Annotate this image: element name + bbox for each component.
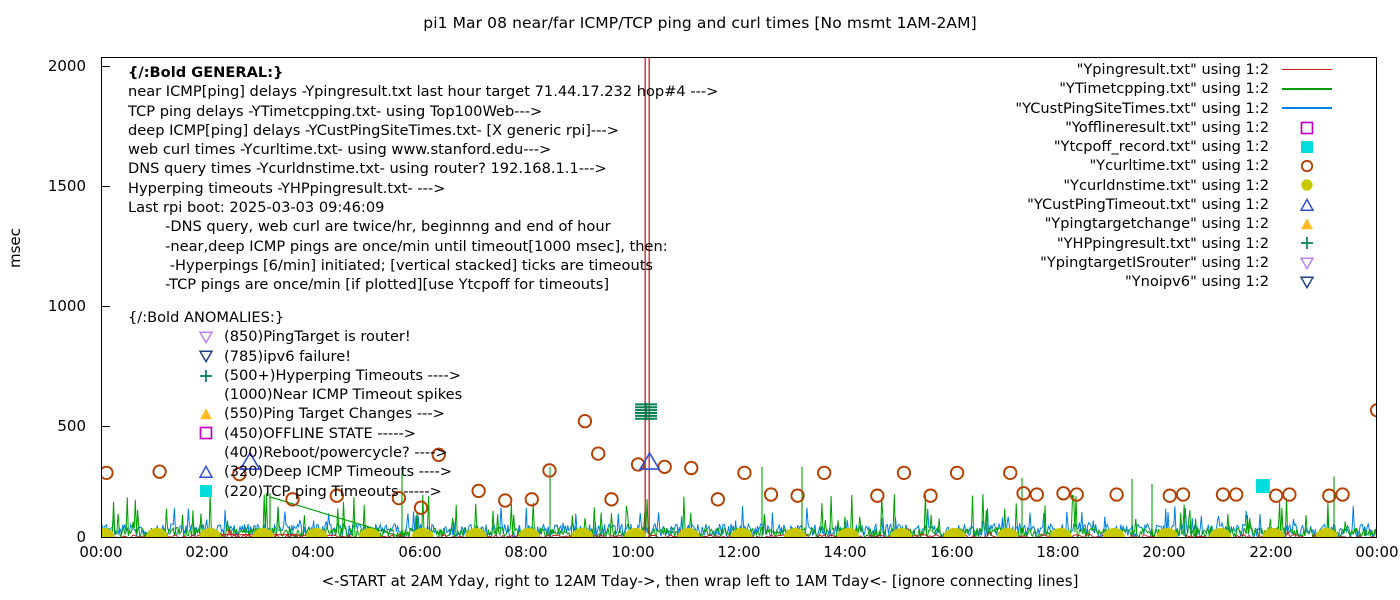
y-tick-1000: 1000 [6,297,86,315]
general-line-1: TCP ping delays -YTimetcpping.txt- using… [128,102,718,121]
anomaly-row-pingtarget-router: (850)PingTarget is router! [128,327,462,346]
legend-label: "Yofflineresult.txt" using 1:2 [1065,118,1269,137]
legend-item-ycustpingsitetimes[interactable]: "YCustPingSiteTimes.txt" using 1:2 [1015,99,1336,118]
legend-label: "YCustPingTimeout.txt" using 1:2 [1027,195,1269,214]
anomaly-label: (785)ipv6 failure! [224,347,351,366]
anomaly-row-offline-state: (450)OFFLINE STATE -----> [128,424,462,443]
plus-green-icon [1278,235,1336,251]
line-blue-icon [1278,107,1336,109]
general-line-5: Hyperping timeouts -YHPpingresult.txt- -… [128,179,718,198]
x-tick-1800: 18:00 [1018,543,1098,561]
anomalies-heading: {/:Bold ANOMALIES:} [128,308,462,327]
legend-label: "Ynoipv6" using 1:2 [1125,272,1269,291]
general-heading: {/:Bold GENERAL:} [128,63,718,82]
y-tick-2000: 2000 [6,57,86,75]
general-line-9: -Hyperpings [6/min] initiated; [vertical… [128,256,718,275]
legend: "Ypingresult.txt" using 1:2 "YTimetcppin… [1015,60,1336,292]
legend-item-yofflineresult[interactable]: "Yofflineresult.txt" using 1:2 [1015,118,1336,137]
x-tick-0600: 06:00 [380,543,460,561]
filled-square-cyan-icon [1278,139,1336,155]
filled-square-cyan-icon [188,483,224,499]
filled-triangle-up-orange-icon [1278,216,1336,232]
legend-item-ypingtargetchange[interactable]: "Ypingtargetchange" using 1:2 [1015,214,1336,233]
chart-title: pi1 Mar 08 near/far ICMP/TCP ping and cu… [0,14,1400,32]
legend-item-ypingtargetisrouter[interactable]: "YpingtargetISrouter" using 1:2 [1015,253,1336,272]
legend-label: "Ytcpoff_record.txt" using 1:2 [1054,137,1269,156]
legend-item-ycurltime[interactable]: "Ycurltime.txt" using 1:2 [1015,156,1336,175]
legend-label: "Ycurldnstime.txt" using 1:2 [1063,176,1269,195]
legend-label: "Ycurltime.txt" using 1:2 [1089,156,1269,175]
y-tick-500: 500 [6,417,86,435]
legend-item-ypingresult[interactable]: "Ypingresult.txt" using 1:2 [1015,60,1336,79]
legend-item-ytcpoff-record[interactable]: "Ytcpoff_record.txt" using 1:2 [1015,137,1336,156]
anomaly-label: (550)Ping Target Changes ---> [224,404,445,423]
anomaly-row-ipv6-failure: (785)ipv6 failure! [128,347,462,366]
x-tick-1200: 12:00 [699,543,779,561]
general-line-3: web curl times -Ycurltime.txt- using www… [128,140,718,159]
general-line-2: deep ICMP[ping] delays -YCustPingSiteTim… [128,121,718,140]
plus-green-icon [188,368,224,384]
anomaly-label: (450)OFFLINE STATE -----> [224,424,416,443]
x-tick-1400: 14:00 [805,543,885,561]
y-axis-label: msec [6,228,24,268]
anomaly-row-hyperping-timeouts: (500+)Hyperping Timeouts ----> [128,366,462,385]
open-square-magenta-icon [1278,120,1336,136]
x-tick-0000a: 00:00 [61,543,141,561]
anomaly-row-deep-icmp-timeouts: (320)Deep ICMP Timeouts ----> [128,462,462,481]
open-triangle-down-blue-icon [188,348,224,364]
anomaly-label: (220)TCP ping Timeouts -----> [224,482,442,501]
legend-label: "YCustPingSiteTimes.txt" using 1:2 [1015,99,1269,118]
legend-item-ycurldnstime[interactable]: "Ycurldnstime.txt" using 1:2 [1015,176,1336,195]
legend-item-ycustpingtimeout[interactable]: "YCustPingTimeout.txt" using 1:2 [1015,195,1336,214]
x-tick-1000: 10:00 [593,543,673,561]
anomaly-label: (850)PingTarget is router! [224,327,411,346]
general-line-8: -near,deep ICMP pings are once/min until… [128,237,718,256]
anomalies-block: {/:Bold ANOMALIES:} (850)PingTarget is r… [128,308,462,501]
line-green-icon [1278,88,1336,90]
legend-item-ytimetcpping[interactable]: "YTimetcpping.txt" using 1:2 [1015,79,1336,98]
legend-label: "YpingtargetISrouter" using 1:2 [1040,253,1269,272]
general-line-7: -DNS query, web curl are twice/hr, begin… [128,217,718,236]
open-square-magenta-icon [188,425,224,441]
x-tick-1600: 16:00 [912,543,992,561]
legend-item-yhppingresult[interactable]: "YHPpingresult.txt" using 1:2 [1015,234,1336,253]
general-line-6: Last rpi boot: 2025-03-03 09:46:09 [128,198,718,217]
anomaly-row-near-icmp-spikes: (1000)Near ICMP Timeout spikes [128,385,462,404]
legend-label: "YTimetcpping.txt" using 1:2 [1059,79,1269,98]
y-tick-1500: 1500 [6,177,86,195]
general-info-block: {/:Bold GENERAL:} near ICMP[ping] delays… [128,63,718,295]
x-tick-2000: 20:00 [1124,543,1204,561]
anomaly-row-reboot-powercycle: (400)Reboot/powercycle? ----> [128,443,462,462]
legend-label: "YHPpingresult.txt" using 1:2 [1057,234,1269,253]
open-triangle-down-violet-icon [1278,255,1336,271]
general-line-0: near ICMP[ping] delays -Ypingresult.txt … [128,82,718,101]
x-axis-label: <-START at 2AM Yday, right to 12AM Tday-… [0,572,1400,590]
x-tick-0800: 08:00 [486,543,566,561]
open-circle-orange-icon [1278,158,1336,174]
open-triangle-up-blue-icon [1278,197,1336,213]
general-line-4: DNS query times -Ycurldnstime.txt- using… [128,159,718,178]
x-tick-2200: 22:00 [1231,543,1311,561]
anomaly-label: (400)Reboot/powercycle? ----> [224,443,448,462]
anomaly-label: (1000)Near ICMP Timeout spikes [224,385,462,404]
filled-circle-yellow-icon [1278,177,1336,193]
filled-triangle-up-orange-icon [188,406,224,422]
anomaly-row-tcp-ping-timeouts: (220)TCP ping Timeouts -----> [128,482,462,501]
legend-item-ynoipv6[interactable]: "Ynoipv6" using 1:2 [1015,272,1336,291]
open-triangle-down-violet-icon [188,329,224,345]
anomaly-label: (320)Deep ICMP Timeouts ----> [224,462,452,481]
open-triangle-down-blue-icon [1278,274,1336,290]
legend-label: "Ypingresult.txt" using 1:2 [1077,60,1269,79]
x-tick-0200: 02:00 [167,543,247,561]
open-triangle-up-blue-icon [188,464,224,480]
legend-label: "Ypingtargetchange" using 1:2 [1045,214,1269,233]
general-line-10: -TCP pings are once/min [if plotted][use… [128,275,718,294]
x-tick-0000b: 00:00 [1337,543,1400,561]
x-tick-0400: 04:00 [273,543,353,561]
line-red-icon [1278,69,1336,71]
anomaly-label: (500+)Hyperping Timeouts ----> [224,366,461,385]
anomaly-row-ping-target-changes: (550)Ping Target Changes ---> [128,404,462,423]
